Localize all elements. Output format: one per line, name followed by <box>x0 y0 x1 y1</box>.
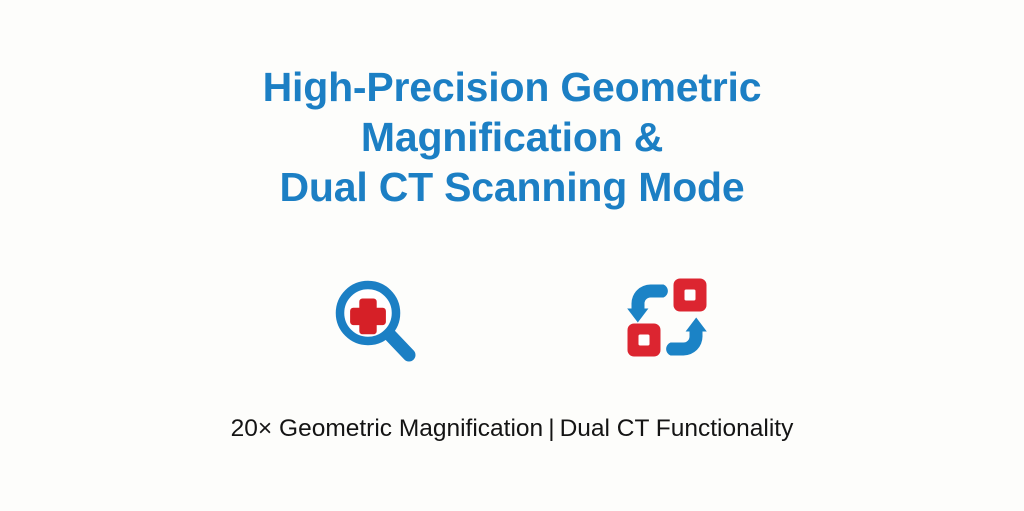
red-square-bottom-left <box>628 324 661 357</box>
subtitle-separator: | <box>543 415 559 442</box>
page-title: High-Precision Geometric Magnification &… <box>0 62 1024 212</box>
magnifier-plus-icon-glyph <box>327 272 423 368</box>
title-line-3: Dual CT Scanning Mode <box>0 162 1024 212</box>
swap-arrow-bottom-right <box>666 318 707 356</box>
title-line-1: High-Precision Geometric <box>0 62 1024 112</box>
dual-swap-icon <box>617 272 713 368</box>
subtitle: 20× Geometric Magnification|Dual CT Func… <box>0 413 1024 445</box>
red-square-top-right <box>674 279 707 312</box>
title-line-2: Magnification & <box>0 112 1024 162</box>
swap-arrow-top-left <box>627 285 668 323</box>
magnifier-plus-icon <box>327 272 423 368</box>
feature-icon-row <box>0 272 1024 368</box>
subtitle-magnification: 20× Geometric Magnification <box>231 415 544 442</box>
presentation-slide: High-Precision Geometric Magnification &… <box>0 0 1024 511</box>
dual-swap-icon-glyph <box>617 272 713 368</box>
subtitle-functionality: Dual CT Functionality <box>560 415 794 442</box>
